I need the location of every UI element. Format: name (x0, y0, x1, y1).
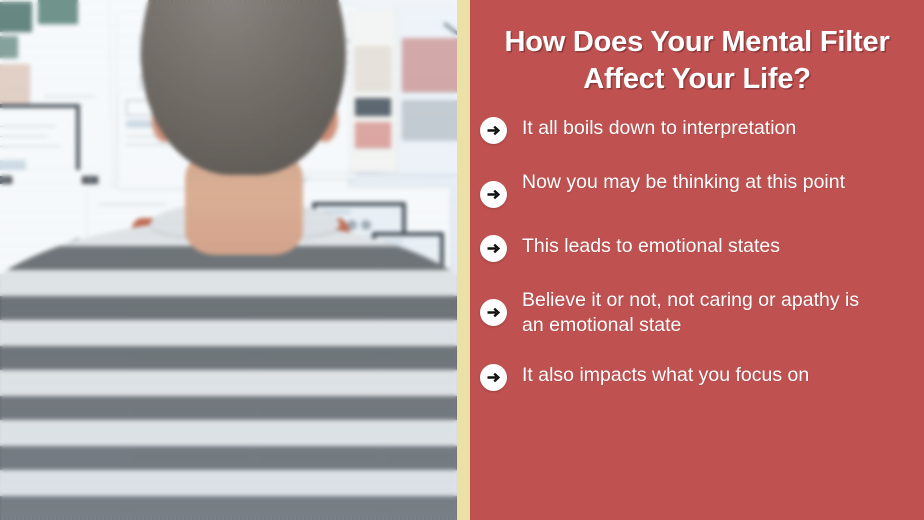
list-item-label: Now you may be thinking at this point (522, 170, 845, 195)
pinned-sheet (118, 90, 210, 188)
arrow-right-circle-icon (480, 364, 507, 391)
pinned-sheet (350, 10, 398, 172)
arrow-right-circle-icon (480, 235, 507, 262)
bullet-list: It all boils down to interpretation Now … (470, 98, 924, 520)
list-item[interactable]: Believe it or not, not caring or apathy … (480, 288, 906, 337)
pinned-sheet (96, 290, 188, 402)
binder-clip-icon (239, 54, 255, 63)
list-item-label: This leads to emotional states (522, 234, 780, 259)
vertical-divider (457, 0, 470, 520)
slide-title: How Does Your Mental Filter Affect Your … (470, 0, 924, 98)
arrow-right-circle-icon (480, 117, 507, 144)
list-item[interactable]: It all boils down to interpretation (480, 116, 906, 144)
list-item[interactable]: It also impacts what you focus on (480, 363, 906, 391)
photo-panel (0, 0, 457, 520)
content-panel: How Does Your Mental Filter Affect Your … (470, 0, 924, 520)
pinned-sheet (404, 296, 457, 456)
list-item-label: Believe it or not, not caring or apathy … (522, 288, 882, 337)
arrow-right-circle-icon (480, 181, 507, 208)
pinned-sheet (0, 296, 102, 414)
list-item[interactable]: This leads to emotional states (480, 234, 906, 262)
list-item-label: It all boils down to interpretation (522, 116, 796, 141)
list-item[interactable]: Now you may be thinking at this point (480, 170, 906, 208)
arrow-right-circle-icon (480, 299, 507, 326)
slide: How Does Your Mental Filter Affect Your … (0, 0, 924, 520)
pinned-sheet (398, 8, 457, 174)
list-item-label: It also impacts what you focus on (522, 363, 809, 388)
binder-clip-icon (0, 398, 14, 407)
binder-clip-icon (126, 386, 142, 395)
binder-clip-icon (143, 56, 159, 65)
binder-clip-icon (52, 394, 68, 403)
